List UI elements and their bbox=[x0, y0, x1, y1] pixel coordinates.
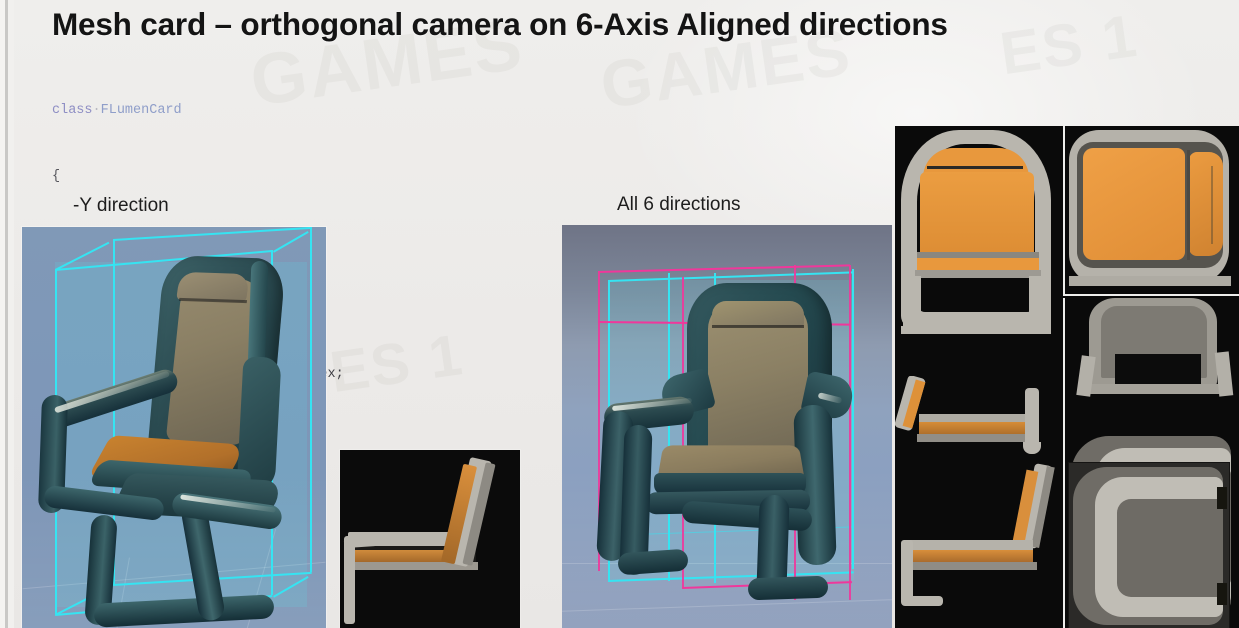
card-cell bbox=[1065, 298, 1239, 424]
code-dot: · bbox=[93, 103, 101, 118]
code-keyword: class bbox=[52, 103, 93, 118]
side-view-card-inset bbox=[340, 450, 520, 628]
chair-mesh bbox=[22, 227, 326, 628]
card-cell bbox=[895, 126, 1063, 374]
card-cell bbox=[1065, 126, 1239, 296]
chair-mesh bbox=[562, 225, 892, 628]
watermark-text: ES 1 bbox=[996, 1, 1142, 89]
slide-left-edge-inner bbox=[8, 0, 14, 628]
code-punct: { bbox=[52, 169, 60, 184]
atlas-divider bbox=[1063, 126, 1065, 296]
code-line: { bbox=[52, 166, 344, 188]
atlas-divider bbox=[1063, 298, 1065, 628]
caption-right: All 6 directions bbox=[617, 194, 741, 216]
atlas-divider bbox=[1065, 294, 1239, 296]
watermark-text: ES 1 bbox=[326, 321, 468, 406]
bottom-view-card-inset bbox=[1068, 462, 1230, 628]
code-type: FLumenCard bbox=[101, 103, 182, 118]
minus-y-direction-viewport bbox=[22, 227, 326, 628]
card-cell bbox=[895, 456, 1063, 628]
all-six-directions-viewport bbox=[562, 225, 892, 628]
caption-left: -Y direction bbox=[73, 195, 169, 217]
page-title: Mesh card – orthogonal camera on 6-Axis … bbox=[52, 6, 948, 43]
slide-canvas: GAMES GAMES ES 1 ES 1 Mesh card – orthog… bbox=[0, 0, 1239, 628]
code-line: class·FLumenCard bbox=[52, 100, 344, 122]
